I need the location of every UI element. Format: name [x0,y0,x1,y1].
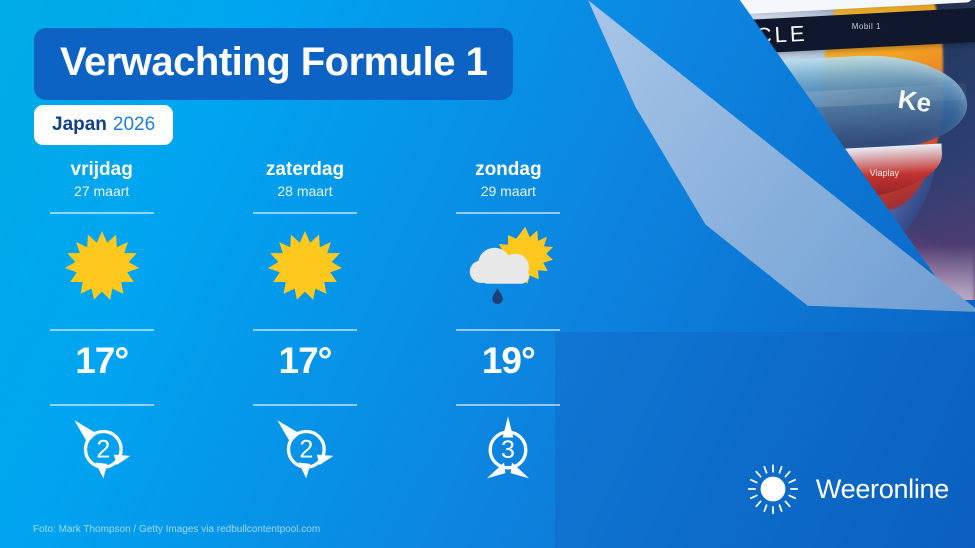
event-pill: Japan 2026 [34,105,173,145]
wind-compass-icon: 3 [475,415,541,481]
photo-credit: Foto: Mark Thompson / Getty Images via r… [33,524,320,535]
event-year: 2026 [113,114,155,136]
day-name: zaterdag [266,160,344,181]
weather-icon-slot [463,214,553,316]
sun-icon [65,228,139,302]
event-country: Japan [52,114,107,136]
redbull-label: Red Bull [780,0,866,5]
day-date: 29 maart [481,183,536,199]
weeronline-logo: Weeronline [746,462,949,516]
wind-force-value: 2 [299,435,313,463]
wind-compass-icon: 2 [272,415,338,481]
day-name: zondag [475,160,542,181]
forecast-day-zaterdag: zaterdag 28 maart 17° 2 [203,160,406,490]
day-date: 28 maart [277,183,332,199]
temperature: 17° [75,331,128,391]
forecast-day-vrijdag: vrijdag 27 maart 17° 2 [0,160,203,490]
temperature: 17° [279,331,332,391]
forecast-day-zondag: zondag 29 maart 19° [407,160,610,490]
day-name: vrijdag [71,160,133,181]
weather-forecast-poster: Red Bull ORACLE TAG Heuer VERSTAPPEN.COM… [0,0,975,548]
weather-icon-slot [65,214,139,316]
wind-slot: 3 [475,406,541,490]
viaplay-label: Viaplay [870,168,899,178]
wind-slot: 2 [69,406,135,490]
sun-logo-icon [746,462,800,516]
page-title: Verwachting Formule 1 [60,42,487,82]
title-box: Verwachting Formule 1 [34,28,513,100]
forecast-columns: vrijdag 27 maart 17° 2 [0,160,610,490]
wind-force-value: 3 [501,436,515,464]
wind-compass-icon: 2 [69,415,135,481]
weather-icon-slot [268,214,342,316]
brand-name: Weeronline [816,474,949,505]
temperature: 19° [482,331,535,391]
mobil-label: Mobil 1 [852,22,881,31]
ke-label: Ke [896,84,933,119]
sun-cloud-rain-icon [463,225,553,305]
wind-slot: 2 [272,406,338,490]
day-date: 27 maart [74,183,129,199]
wind-force-value: 2 [96,435,110,463]
sun-icon [268,228,342,302]
